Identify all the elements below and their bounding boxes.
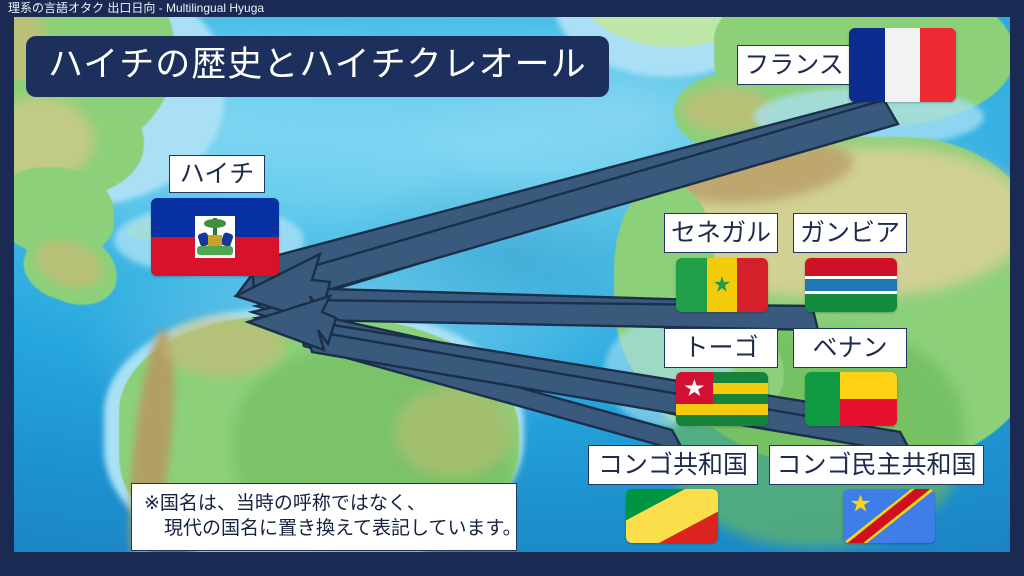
senegal-flag	[676, 258, 768, 312]
france-flag-red-band	[920, 28, 956, 102]
congo-republic-flag	[626, 489, 718, 543]
label-congo-republic[interactable]: コンゴ共和国	[588, 445, 758, 485]
congo-dr-flag	[843, 489, 935, 543]
france-flag	[849, 28, 956, 102]
label-togo[interactable]: トーゴ	[664, 328, 778, 368]
label-france[interactable]: フランス	[737, 45, 851, 85]
header-bar: 理系の言語オタク 出口日向 - Multilingual Hyuga	[0, 0, 1024, 16]
label-benin[interactable]: ベナン	[793, 328, 907, 368]
slide-border-bottom	[0, 552, 1024, 576]
gambia-flag-green-band	[805, 294, 897, 312]
benin-flag-yellow-band	[840, 372, 897, 399]
slide-canvas: .arw { fill:#3a5a7d; stroke:#1b2f4a; str…	[0, 0, 1024, 576]
haiti-flag-ground	[197, 246, 233, 254]
channel-title: 理系の言語オタク 出口日向 - Multilingual Hyuga	[8, 0, 264, 16]
senegal-flag-red-band	[737, 258, 768, 312]
footnote-line-1: ※国名は、当時の呼称ではなく、	[144, 491, 504, 516]
footnote-line-2: 現代の国名に置き換えて表記しています。	[144, 516, 504, 541]
france-flag-blue-band	[849, 28, 885, 102]
gambia-flag	[805, 258, 897, 312]
label-haiti[interactable]: ハイチ	[169, 155, 265, 193]
benin-flag-green-band	[805, 372, 840, 426]
togo-flag-stripe-4	[676, 404, 768, 415]
haiti-flag-palm-fronds	[204, 219, 225, 227]
togo-flag	[676, 372, 768, 426]
slide-title: ハイチの歴史とハイチクレオール	[48, 45, 587, 85]
label-congo-dr[interactable]: コンゴ民主共和国	[769, 445, 984, 485]
benin-flag-red-band	[840, 399, 897, 426]
haiti-flag-arms-panel	[195, 216, 236, 258]
slide-title-box: ハイチの歴史とハイチクレオール	[26, 36, 609, 97]
gambia-flag-red-band	[805, 258, 897, 276]
haiti-flag	[151, 198, 279, 276]
senegal-flag-green-band	[676, 258, 707, 312]
togo-flag-stripe-5	[676, 415, 768, 426]
togo-flag-star	[684, 379, 705, 397]
haiti-flag-cannon	[208, 235, 223, 246]
label-senegal[interactable]: セネガル	[664, 213, 778, 253]
arrow-france-shaft	[248, 100, 898, 306]
footnote-box: ※国名は、当時の呼称ではなく、 現代の国名に置き換えて表記しています。	[131, 483, 517, 551]
france-flag-white-band	[885, 28, 921, 102]
benin-flag	[805, 372, 897, 426]
gambia-flag-blue-band	[805, 279, 897, 291]
label-gambia[interactable]: ガンビア	[793, 213, 907, 253]
togo-flag-canton	[676, 372, 713, 404]
